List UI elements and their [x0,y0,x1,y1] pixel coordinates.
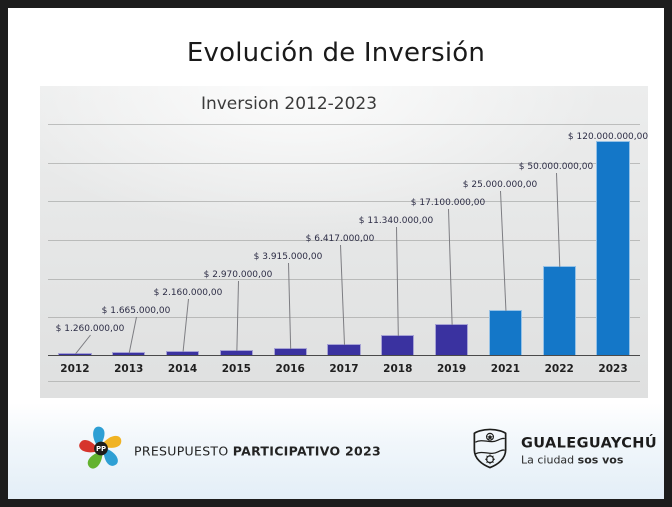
city-tagline-light: La ciudad [521,453,578,466]
svg-text:PP: PP [96,445,106,453]
bar-slot [268,124,313,355]
bar-slot [483,124,528,355]
bar-slot [214,124,259,355]
chart-axis-line [48,355,640,356]
shield-crest-icon [470,428,510,475]
bar-slot [321,124,366,355]
x-axis-label: 2017 [321,363,366,375]
x-axis-label: 2023 [591,363,636,375]
pp-label-light: PRESUPUESTO [134,444,233,459]
bar-slot [429,124,474,355]
chart-bars [48,124,640,355]
x-axis-label: 2014 [160,363,205,375]
participative-budget-label: PRESUPUESTO PARTICIPATIVO 2023 [134,444,381,459]
bar-slot [375,124,420,355]
city-name: GUALEGUAYCHÚ [521,435,657,453]
chart-bar[interactable] [489,310,522,355]
chart-bar[interactable] [543,266,576,355]
chart-x-axis-rule [48,381,640,382]
chart-bar[interactable] [274,348,307,355]
city-tagline-bold: sos vos [578,453,624,466]
chart-title: Inversion 2012-2023 [40,94,593,114]
chart-bar[interactable] [596,141,629,355]
x-axis-label: 2013 [106,363,151,375]
city-tagline: La ciudad sos vos [521,453,657,466]
chart-bar[interactable] [381,335,414,355]
x-axis-label: 2018 [375,363,420,375]
x-axis-label: 2012 [52,363,97,375]
chart-bar[interactable] [435,324,468,355]
pp-label-bold: PARTICIPATIVO 2023 [233,444,381,459]
x-axis-label: 2019 [429,363,474,375]
x-axis-label: 2021 [483,363,528,375]
bar-slot [160,124,205,355]
pinwheel-logo-icon: PP [78,426,124,477]
bar-slot [106,124,151,355]
x-axis-label: 2016 [268,363,313,375]
slide-footer: PP PRESUPUESTO PARTICIPATIVO 2023 [8,403,664,499]
chart-plot-area: $ 1.260.000,00$ 1.665.000,00$ 2.160.000,… [48,124,640,356]
chart-bar[interactable] [327,344,360,355]
chart-x-axis: 2012201320142015201620172018201920212022… [48,358,640,380]
slide-page: Evolución de Inversión Inversion 2012-20… [8,8,664,499]
page-title: Evolución de Inversión [8,38,664,68]
bar-slot [52,124,97,355]
x-axis-label: 2022 [537,363,582,375]
x-axis-label: 2015 [214,363,259,375]
chart-panel: Inversion 2012-2023 $ 1.260.000,00$ 1.66… [40,86,648,398]
city-brand: GUALEGUAYCHÚ La ciudad sos vos [470,428,657,475]
bar-slot [591,124,636,355]
slide-frame: Evolución de Inversión Inversion 2012-20… [0,0,672,507]
bar-slot [537,124,582,355]
participative-budget-brand: PP PRESUPUESTO PARTICIPATIVO 2023 [78,426,381,477]
